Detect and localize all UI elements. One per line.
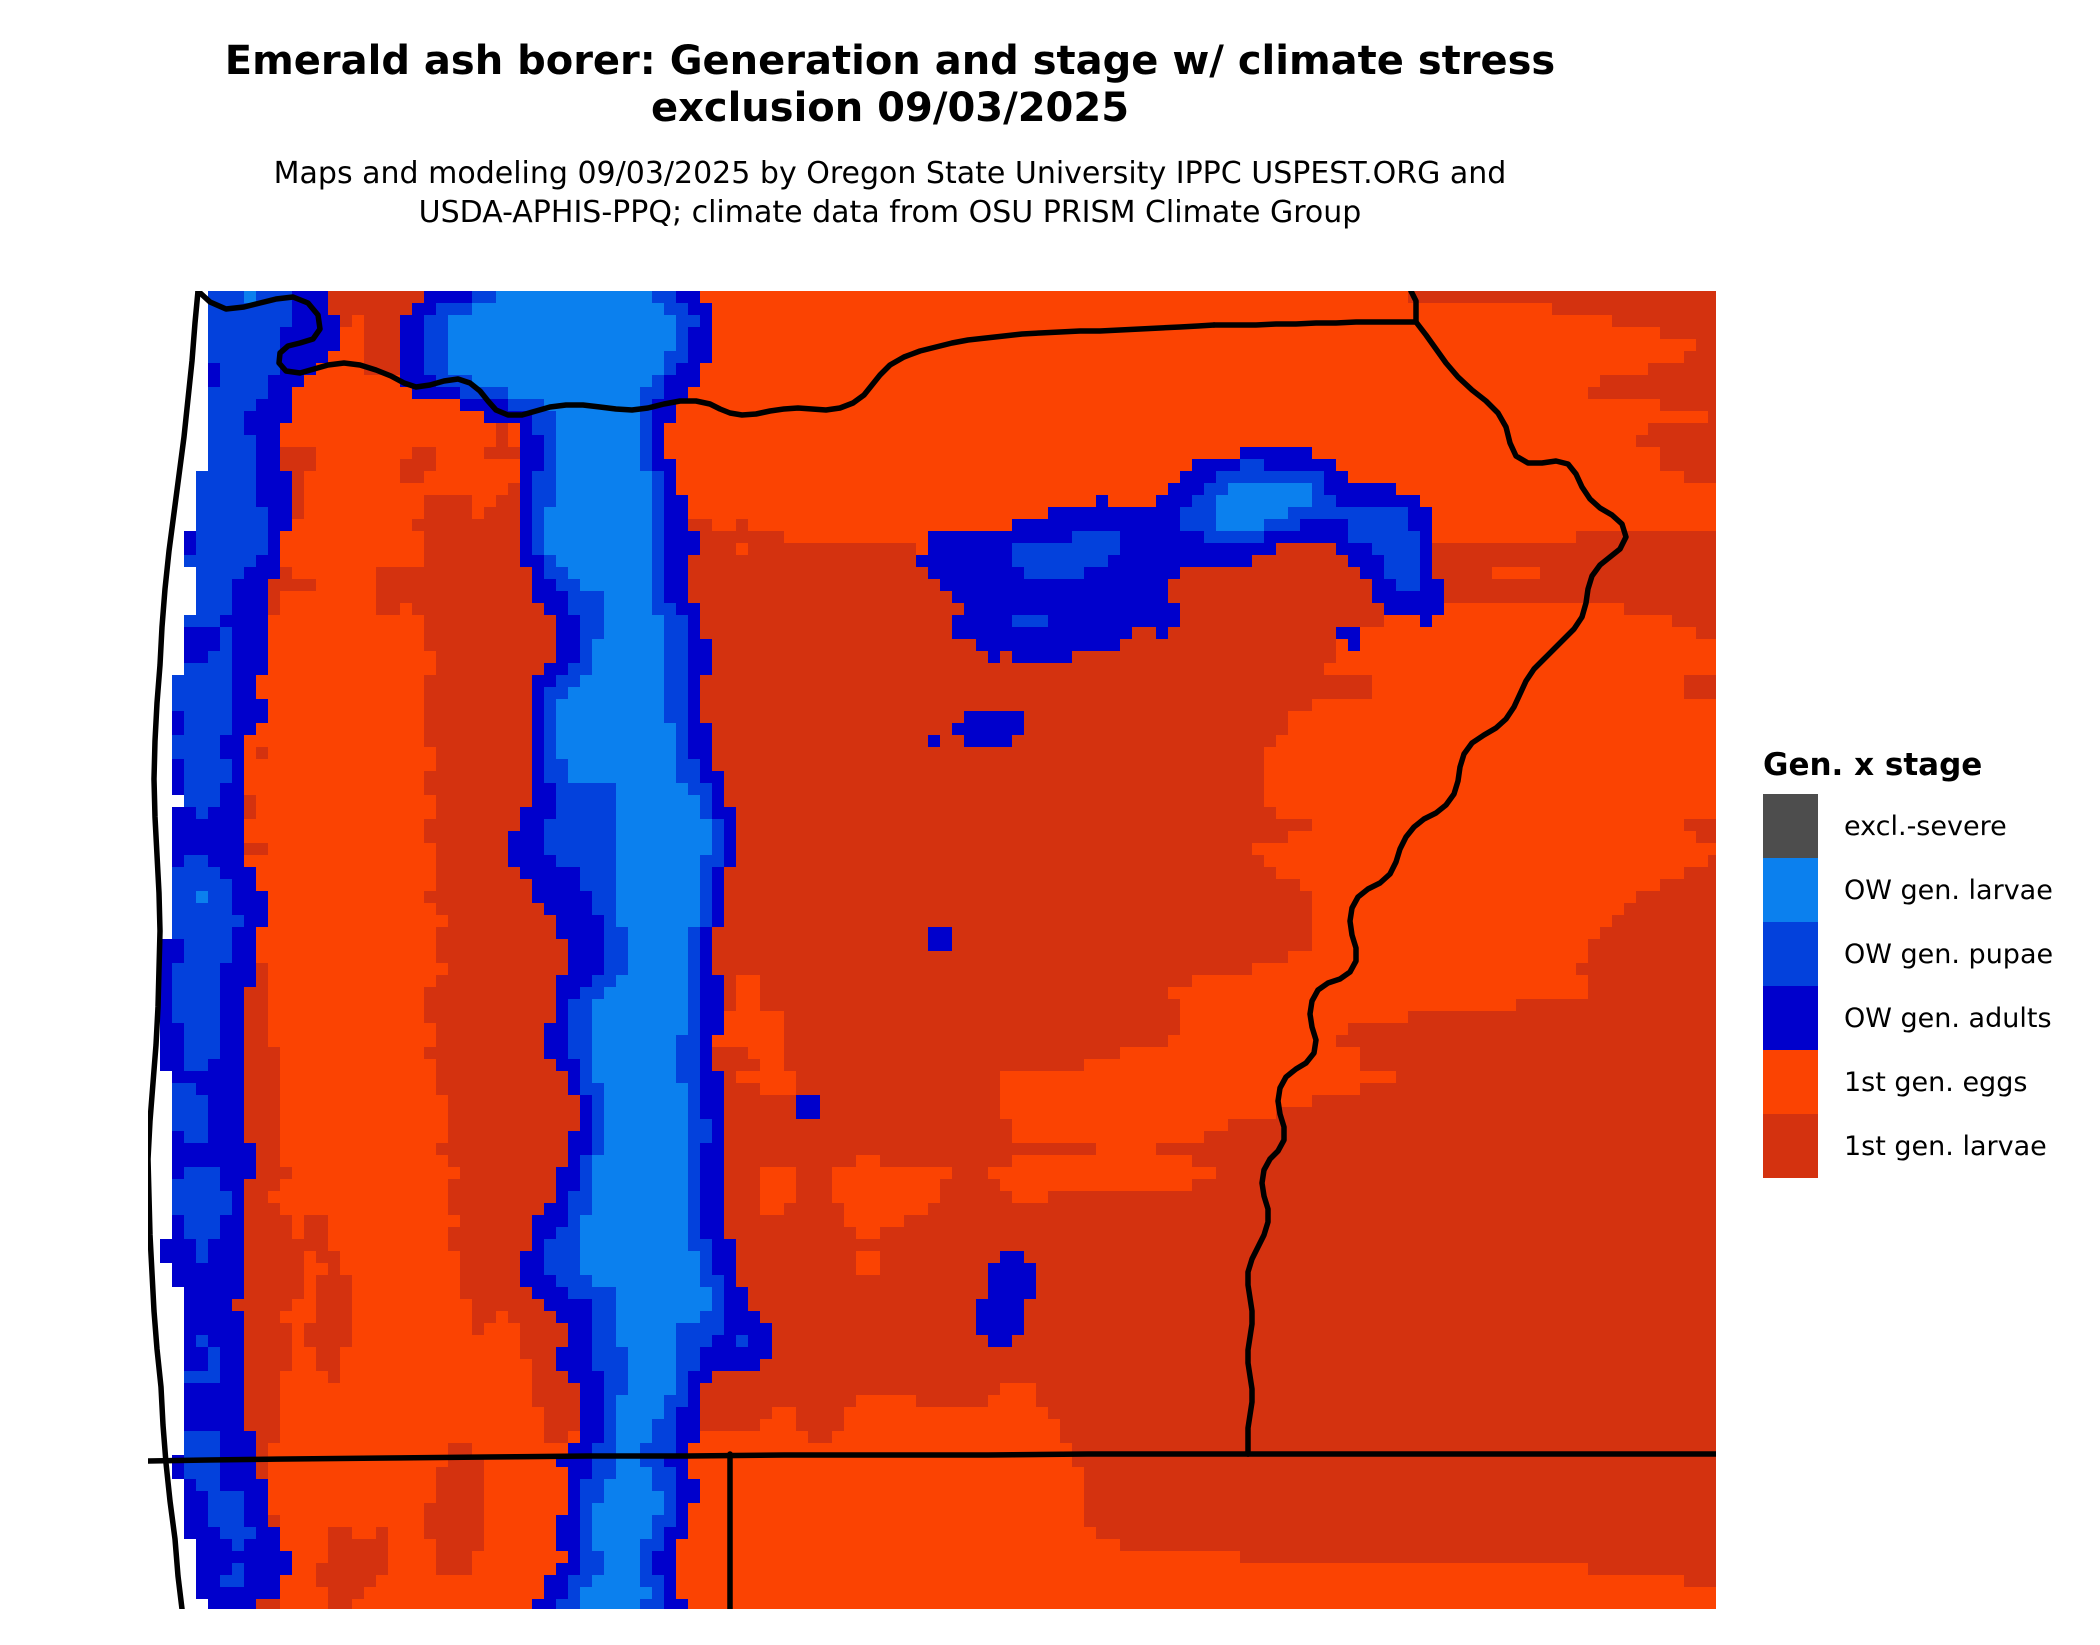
legend-row[interactable]: OW gen. adults (1763, 986, 2083, 1050)
legend-row[interactable]: OW gen. pupae (1763, 922, 2083, 986)
legend-label: OW gen. larvae (1844, 877, 2053, 904)
legend: Gen. x stage excl.-severeOW gen. larvaeO… (1763, 748, 2083, 1178)
legend-row[interactable]: 1st gen. larvae (1763, 1114, 2083, 1178)
title-block: Emerald ash borer: Generation and stage … (110, 38, 1670, 232)
legend-color-swatch (1763, 1050, 1818, 1114)
legend-color-swatch (1763, 1114, 1818, 1178)
raster-map-canvas[interactable] (148, 291, 1716, 1609)
legend-label: 1st gen. larvae (1844, 1133, 2047, 1160)
map-panel[interactable] (148, 291, 1716, 1609)
figure-root: Emerald ash borer: Generation and stage … (0, 0, 2100, 1645)
legend-color-swatch (1763, 986, 1818, 1050)
legend-color-swatch (1763, 794, 1818, 858)
legend-label: excl.-severe (1844, 813, 2007, 840)
legend-label: OW gen. pupae (1844, 941, 2053, 968)
legend-label: 1st gen. eggs (1844, 1069, 2027, 1096)
figure-subtitle: Maps and modeling 09/03/2025 by Oregon S… (110, 132, 1670, 232)
legend-items: excl.-severeOW gen. larvaeOW gen. pupaeO… (1763, 794, 2083, 1178)
legend-label: OW gen. adults (1844, 1005, 2052, 1032)
legend-row[interactable]: 1st gen. eggs (1763, 1050, 2083, 1114)
page-title: Emerald ash borer: Generation and stage … (110, 38, 1670, 132)
legend-color-swatch (1763, 922, 1818, 986)
legend-row[interactable]: excl.-severe (1763, 794, 2083, 858)
legend-row[interactable]: OW gen. larvae (1763, 858, 2083, 922)
legend-color-swatch (1763, 858, 1818, 922)
legend-title: Gen. x stage (1763, 748, 2083, 782)
